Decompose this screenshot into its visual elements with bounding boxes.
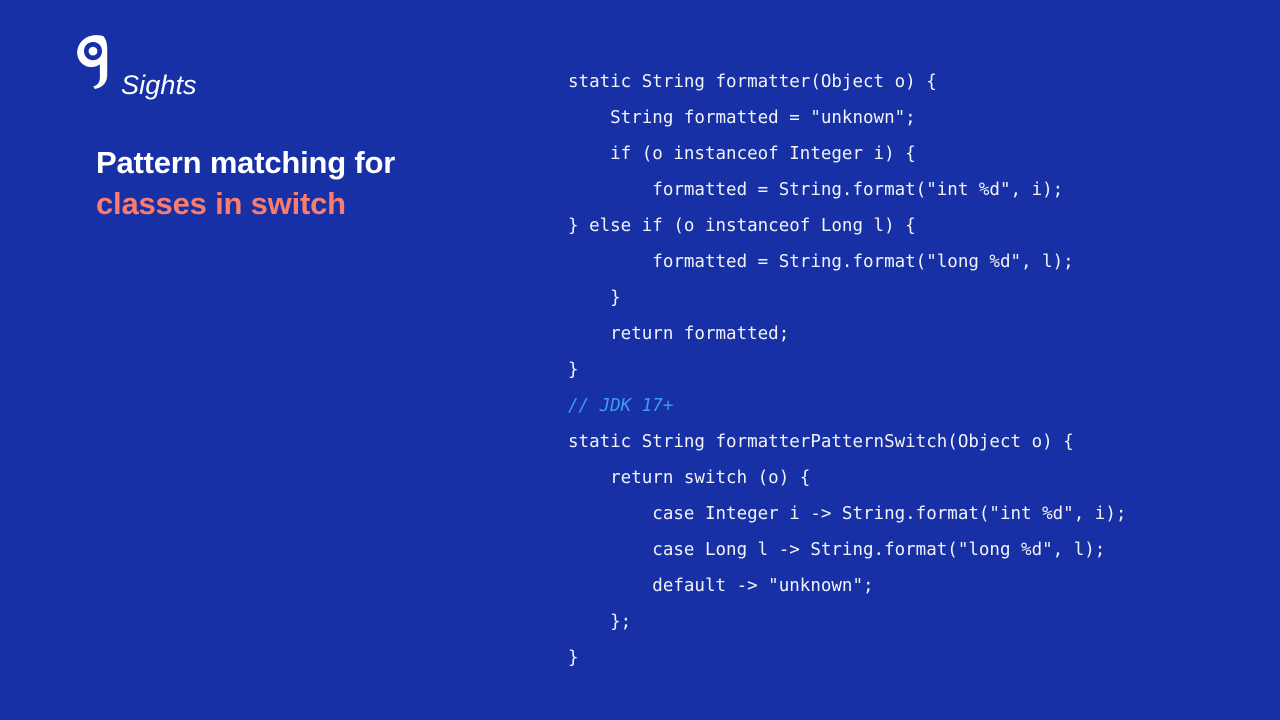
code-line: formatted = String.format("long %d", l); [568,244,1268,280]
code-line: }; [568,604,1268,640]
nine-sights-logo-icon [74,33,120,89]
code-line: static String formatterPatternSwitch(Obj… [568,424,1268,460]
slide-root: Sights Pattern matching for classes in s… [0,0,1280,720]
brand-lockup: Sights [74,33,197,109]
code-block: static String formatter(Object o) { Stri… [568,64,1268,676]
code-line: case Integer i -> String.format("int %d"… [568,496,1268,532]
code-line: } [568,280,1268,316]
code-line: return switch (o) { [568,460,1268,496]
code-line: // JDK 17+ [568,388,1268,424]
page-title-line-2: classes in switch [96,183,516,224]
code-column: static String formatter(Object o) { Stri… [568,46,1268,693]
code-line: } [568,352,1268,388]
code-line: case Long l -> String.format("long %d", … [568,532,1268,568]
page-title-line-1: Pattern matching for [96,142,516,183]
code-line: static String formatter(Object o) { [568,64,1268,100]
code-line: if (o instanceof Integer i) { [568,136,1268,172]
code-line: formatted = String.format("int %d", i); [568,172,1268,208]
code-line: } else if (o instanceof Long l) { [568,208,1268,244]
code-line: String formatted = "unknown"; [568,100,1268,136]
code-line: default -> "unknown"; [568,568,1268,604]
page-title: Pattern matching for classes in switch [96,142,516,224]
left-column: Sights Pattern matching for classes in s… [0,0,540,720]
code-line: } [568,640,1268,676]
code-line: return formatted; [568,316,1268,352]
brand-name: Sights [121,72,197,99]
